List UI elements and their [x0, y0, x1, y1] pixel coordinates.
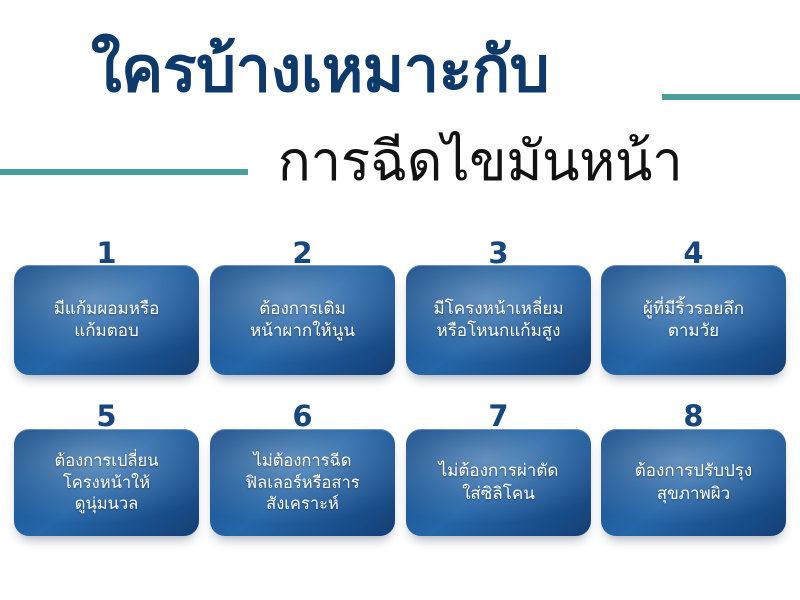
card-item-6[interactable]: 6 ไม่ต้องการฉีด ฟิลเลอร์หรือสาร สังเคราะ… — [210, 401, 395, 564]
card-number-2: 2 — [210, 238, 395, 268]
card-item-7[interactable]: 7 ไม่ต้องการผ่าตัด ใส่ซิลิโคน — [406, 401, 591, 564]
card-number-1: 1 — [14, 238, 199, 268]
card-label-2: ต้องการเติม หน้าผากให้นูน — [215, 298, 391, 343]
card-number-5: 5 — [14, 401, 199, 431]
decorative-rule-right — [662, 94, 800, 100]
card-row-2: 5 ต้องการเปลี่ยน โครงหน้าให้ ดูนุ่มนวล 6… — [0, 401, 800, 564]
card-label-4: ผู้ที่มีริ้วรอยลึก ตามวัย — [606, 298, 782, 343]
card-label-5: ต้องการเปลี่ยน โครงหน้าให้ ดูนุ่มนวล — [19, 450, 195, 514]
card-item-5[interactable]: 5 ต้องการเปลี่ยน โครงหน้าให้ ดูนุ่มนวล — [14, 401, 199, 564]
slide-canvas: ใครบ้างเหมาะกับ การฉีดไขมันหน้า 1 มีแก้ม… — [0, 0, 800, 600]
card-body-7[interactable]: ไม่ต้องการผ่าตัด ใส่ซิลิโคน — [406, 429, 591, 536]
card-grid: 1 มีแก้มผอมหรือ แก้มตอบ 2 ต้องการเติม หน… — [0, 238, 800, 564]
card-number-6: 6 — [210, 401, 395, 431]
card-label-3: มีโครงหน้าเหลี่ยม หรือโหนกแก้มสูง — [411, 298, 587, 343]
card-item-1[interactable]: 1 มีแก้มผอมหรือ แก้มตอบ — [14, 238, 199, 401]
card-item-3[interactable]: 3 มีโครงหน้าเหลี่ยม หรือโหนกแก้มสูง — [406, 238, 591, 401]
card-item-2[interactable]: 2 ต้องการเติม หน้าผากให้นูน — [210, 238, 395, 401]
card-label-7: ไม่ต้องการผ่าตัด ใส่ซิลิโคน — [411, 460, 587, 505]
card-number-7: 7 — [406, 401, 591, 431]
card-body-2[interactable]: ต้องการเติม หน้าผากให้นูน — [210, 265, 395, 375]
card-number-8: 8 — [601, 401, 786, 431]
card-item-8[interactable]: 8 ต้องการปรับปรุง สุขภาพผิว — [601, 401, 786, 564]
card-number-4: 4 — [601, 238, 786, 268]
card-label-1: มีแก้มผอมหรือ แก้มตอบ — [19, 298, 195, 343]
page-title-line-2: การฉีดไขมันหน้า — [160, 134, 800, 189]
card-body-3[interactable]: มีโครงหน้าเหลี่ยม หรือโหนกแก้มสูง — [406, 265, 591, 375]
card-label-8: ต้องการปรับปรุง สุขภาพผิว — [606, 460, 782, 505]
title-area: ใครบ้างเหมาะกับ การฉีดไขมันหน้า — [0, 0, 800, 215]
card-body-8[interactable]: ต้องการปรับปรุง สุขภาพผิว — [601, 429, 786, 536]
card-item-4[interactable]: 4 ผู้ที่มีริ้วรอยลึก ตามวัย — [601, 238, 786, 401]
page-title-line-1: ใครบ้างเหมาะกับ — [0, 38, 640, 101]
card-row-1: 1 มีแก้มผอมหรือ แก้มตอบ 2 ต้องการเติม หน… — [0, 238, 800, 401]
card-body-5[interactable]: ต้องการเปลี่ยน โครงหน้าให้ ดูนุ่มนวล — [14, 429, 199, 536]
card-body-1[interactable]: มีแก้มผอมหรือ แก้มตอบ — [14, 265, 199, 375]
card-body-6[interactable]: ไม่ต้องการฉีด ฟิลเลอร์หรือสาร สังเคราะห์ — [210, 429, 395, 536]
card-number-3: 3 — [406, 238, 591, 268]
card-label-6: ไม่ต้องการฉีด ฟิลเลอร์หรือสาร สังเคราะห์ — [215, 450, 391, 514]
card-body-4[interactable]: ผู้ที่มีริ้วรอยลึก ตามวัย — [601, 265, 786, 375]
